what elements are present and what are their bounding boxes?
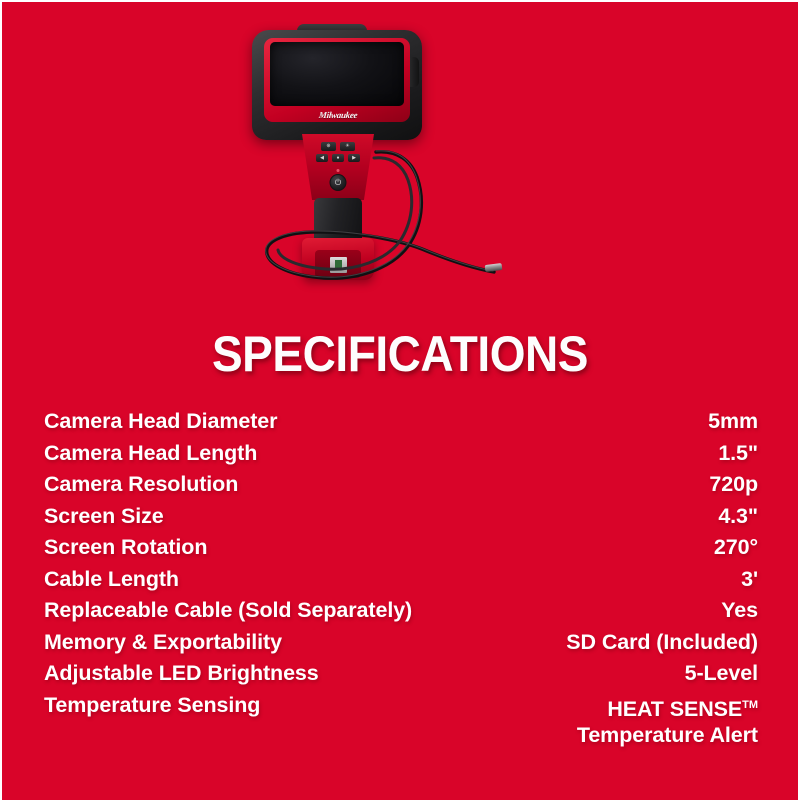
status-led-icon	[337, 169, 340, 172]
spec-value: 5mm	[708, 408, 758, 434]
spec-value: 270°	[714, 534, 758, 560]
spec-value: 1.5"	[718, 440, 758, 466]
control-button-row-top: ⊕ ☀	[312, 142, 364, 151]
spec-value: HEAT SENSETM Temperature Alert	[577, 692, 758, 748]
capture-button[interactable]: ●	[332, 154, 344, 162]
trademark-symbol: TM	[742, 699, 758, 711]
spec-value-line-1: HEAT SENSETM	[607, 692, 758, 722]
spec-value: 720p	[709, 471, 758, 497]
table-row: Cable Length 3'	[44, 566, 758, 598]
battery-connector	[330, 257, 347, 273]
table-row: Screen Size 4.3"	[44, 503, 758, 535]
next-button[interactable]: ▶	[348, 154, 360, 162]
table-row: Replaceable Cable (Sold Separately) Yes	[44, 597, 758, 629]
brand-logo-text: Milwaukee	[318, 110, 357, 120]
heat-sense-text: HEAT SENSE	[607, 697, 742, 721]
product-image: Milwaukee ⊕ ☀ ◀ ● ▶ ⏻	[2, 2, 798, 302]
control-button-panel: ⊕ ☀ ◀ ● ▶ ⏻	[312, 142, 364, 196]
display-screen	[270, 42, 404, 106]
table-row: Camera Head Diameter 5mm	[44, 408, 758, 440]
spec-label: Replaceable Cable (Sold Separately)	[44, 597, 412, 623]
red-canvas: Milwaukee ⊕ ☀ ◀ ● ▶ ⏻	[2, 2, 798, 800]
spec-label: Screen Rotation	[44, 534, 207, 560]
table-row: Camera Resolution 720p	[44, 471, 758, 503]
specifications-table: Camera Head Diameter 5mm Camera Head Len…	[44, 408, 758, 750]
table-row: Memory & Exportability SD Card (Included…	[44, 629, 758, 661]
spec-value: SD Card (Included)	[566, 629, 758, 655]
control-button-row-bottom: ◀ ● ▶	[312, 154, 364, 162]
power-button[interactable]: ⏻	[330, 174, 347, 191]
spec-label: Cable Length	[44, 566, 179, 592]
brightness-button[interactable]: ☀	[340, 142, 355, 151]
spec-value-line-2: Temperature Alert	[577, 722, 758, 748]
spec-value: 4.3"	[718, 503, 758, 529]
table-row: Adjustable LED Brightness 5-Level	[44, 660, 758, 692]
spec-value: 3'	[741, 566, 758, 592]
spec-label: Screen Size	[44, 503, 164, 529]
spec-label: Adjustable LED Brightness	[44, 660, 319, 686]
table-row: Screen Rotation 270°	[44, 534, 758, 566]
camera-head-tip	[485, 263, 503, 272]
table-row: Camera Head Length 1.5"	[44, 440, 758, 472]
brand-logo: Milwaukee	[302, 106, 374, 123]
spec-label: Camera Head Length	[44, 440, 257, 466]
spec-label: Camera Resolution	[44, 471, 238, 497]
zoom-button[interactable]: ⊕	[321, 142, 336, 151]
spec-value: Yes	[721, 597, 758, 623]
previous-button[interactable]: ◀	[316, 154, 328, 162]
spec-label: Temperature Sensing	[44, 692, 260, 718]
page-title: SPECIFICATIONS	[34, 329, 766, 379]
spec-label: Memory & Exportability	[44, 629, 282, 655]
specifications-page: Milwaukee ⊕ ☀ ◀ ● ▶ ⏻	[0, 0, 800, 802]
spec-value: 5-Level	[685, 660, 758, 686]
spec-label: Camera Head Diameter	[44, 408, 277, 434]
table-row: Temperature Sensing HEAT SENSETM Tempera…	[44, 692, 758, 750]
